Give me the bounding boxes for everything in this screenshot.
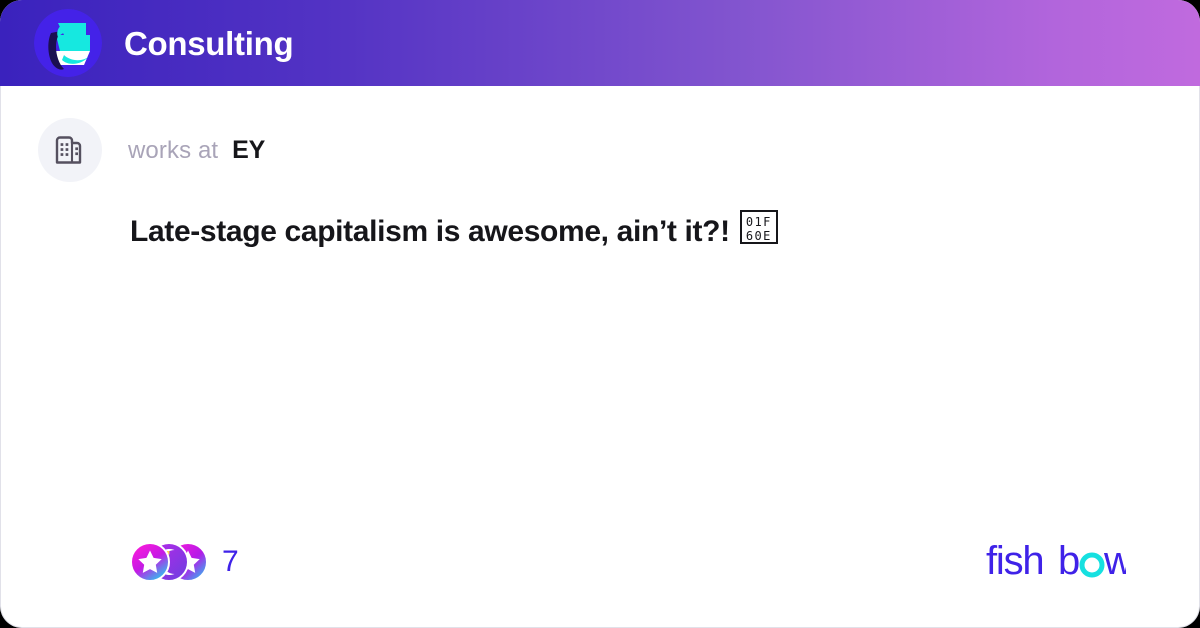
author-row[interactable]: works at EY [38,118,265,182]
fishbowl-post-card: Consulting works at [0,0,1200,628]
group-header: Consulting [0,0,1200,86]
fishbowl-circle-logo-icon [34,9,102,77]
author-meta: works at EY [128,136,265,165]
group-title: Consulting [124,27,293,60]
missing-glyph-emoji-box: 01F60E [740,210,778,244]
fishbowl-wordmark: fish b wl [986,540,1126,584]
svg-text:wl: wl [1103,540,1126,583]
office-building-icon [53,133,87,167]
star-reaction-icon [130,542,170,582]
reaction-count: 7 [222,547,239,577]
post-text: Late-stage capitalism is awesome, ain’t … [130,215,730,248]
reaction-icon-stack[interactable] [130,542,208,582]
avatar [38,118,102,182]
tofu-codepoint-bottom: 60E [742,230,776,242]
reaction-summary[interactable]: 7 [130,542,239,582]
works-at-label: works at [128,137,218,165]
svg-text:b: b [1058,540,1079,583]
post-body: Late-stage capitalism is awesome, ain’t … [130,210,1110,252]
tofu-codepoint-top: 01F [742,216,776,228]
company-name[interactable]: EY [232,136,265,165]
svg-text:fish: fish [986,540,1043,583]
